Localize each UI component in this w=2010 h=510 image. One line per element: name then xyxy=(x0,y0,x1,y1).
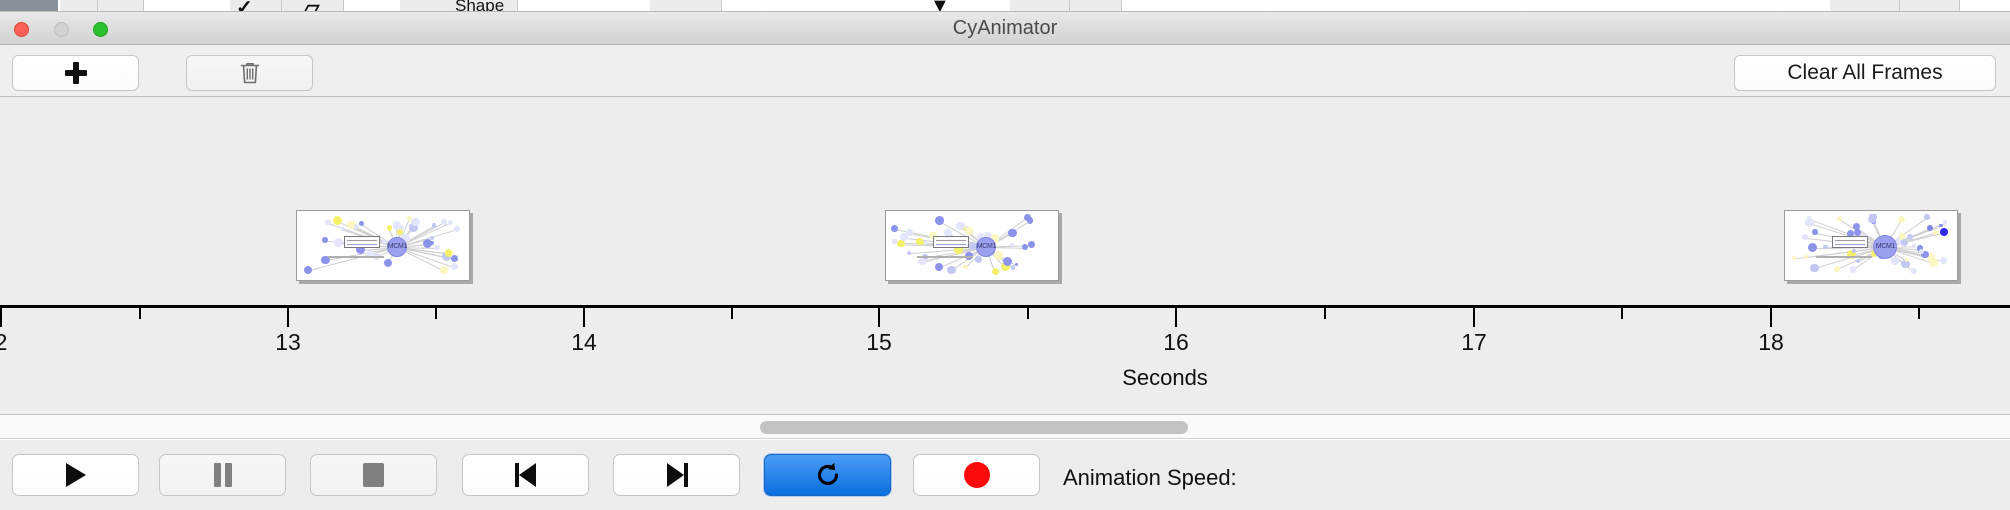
graph-hub-node: MCM1 xyxy=(1873,235,1897,259)
graph-node xyxy=(1024,214,1031,221)
play-button[interactable] xyxy=(12,454,139,496)
graph-node xyxy=(1898,216,1905,223)
delete-frame-button[interactable] xyxy=(186,55,313,91)
graph-node xyxy=(1852,249,1856,253)
graph-node xyxy=(1919,249,1924,254)
graph-annotation-line xyxy=(347,240,377,241)
graph-node xyxy=(1905,258,1908,261)
frame-network-graph: MCM1 xyxy=(889,214,1055,277)
graph-node xyxy=(1943,220,1947,224)
skip-back-icon xyxy=(515,463,537,487)
graph-node xyxy=(451,255,458,262)
graph-node xyxy=(430,236,434,240)
graph-annotation-box xyxy=(933,236,969,248)
graph-node xyxy=(1808,243,1817,252)
timeline-tick-major xyxy=(0,308,2,327)
graph-caption-line xyxy=(328,256,384,258)
graph-node xyxy=(1940,257,1948,265)
graph-node xyxy=(1010,243,1014,247)
graph-node xyxy=(384,259,392,267)
graph-node xyxy=(1911,268,1918,275)
timeline-panel[interactable]: MCM1MCM1MCM1 2131415161718 Seconds xyxy=(0,97,2010,415)
graph-node xyxy=(1868,216,1875,223)
graph-node xyxy=(907,251,911,255)
play-icon xyxy=(66,463,86,487)
graph-node xyxy=(1939,224,1943,228)
timeline-tick-major xyxy=(287,308,289,327)
frame-toolbar: Clear All Frames xyxy=(0,45,2010,97)
graph-node xyxy=(445,249,452,256)
graph-node xyxy=(1891,257,1899,265)
graph-annotation-line xyxy=(936,244,966,245)
graph-node xyxy=(1804,255,1808,259)
skip-forward-icon xyxy=(666,463,688,487)
animation-speed-label: Animation Speed: xyxy=(1063,465,1237,491)
graph-node xyxy=(1792,256,1796,260)
graph-node xyxy=(440,266,448,274)
timeline-scrollbar[interactable] xyxy=(0,415,2010,439)
timeline-tick-minor xyxy=(1621,308,1623,319)
graph-caption-line xyxy=(1816,256,1872,258)
graph-node xyxy=(1901,239,1908,246)
window-title: CyAnimator xyxy=(0,12,2010,45)
graph-node xyxy=(965,227,973,235)
graph-annotation-box xyxy=(1832,236,1868,248)
graph-annotation-box xyxy=(344,236,380,248)
timeline-tick-label: 13 xyxy=(275,329,301,356)
graph-node xyxy=(906,229,913,236)
plus-icon xyxy=(65,62,87,84)
clear-all-frames-label: Clear All Frames xyxy=(1787,61,1942,85)
timeline-axis-title-text: Seconds xyxy=(1122,365,1208,390)
graph-node xyxy=(891,225,898,232)
graph-node xyxy=(402,234,406,238)
graph-node xyxy=(1850,266,1857,273)
graph-node xyxy=(1924,214,1930,220)
stop-button xyxy=(310,454,437,496)
graph-node xyxy=(1015,263,1018,266)
cyanimator-window: ✓ ▱ ▼ Shape CyAnimator Clear All Frames xyxy=(0,0,2010,510)
pause-button xyxy=(159,454,286,496)
graph-node xyxy=(454,226,460,232)
frame-network-graph: MCM1 xyxy=(300,214,466,277)
graph-node xyxy=(1028,241,1035,248)
timeline-axis xyxy=(0,305,2010,308)
graph-node xyxy=(994,251,1003,260)
graph-node xyxy=(1008,229,1016,237)
graph-node xyxy=(411,218,419,226)
graph-node xyxy=(334,238,343,247)
graph-node xyxy=(333,216,342,225)
graph-annotation-line xyxy=(1835,240,1865,241)
graph-node xyxy=(975,256,982,263)
pause-icon xyxy=(213,463,233,487)
graph-node xyxy=(1802,234,1808,240)
graph-node xyxy=(1940,228,1948,236)
graph-node xyxy=(325,220,330,225)
timeline-tick-major xyxy=(1770,308,1772,327)
graph-node xyxy=(1003,257,1012,266)
graph-node xyxy=(1834,266,1840,272)
graph-node xyxy=(1854,229,1861,236)
graph-annotation-line xyxy=(1835,244,1865,245)
timeline-tick-label: 18 xyxy=(1758,329,1784,356)
timeline-tick-label: 16 xyxy=(1163,329,1189,356)
timeline-tick-major xyxy=(1175,308,1177,327)
timeline-axis-title: Seconds xyxy=(0,365,2010,391)
graph-annotation-line xyxy=(936,240,966,241)
graph-node xyxy=(1810,264,1818,272)
background-dark-segment xyxy=(0,0,58,11)
graph-node xyxy=(919,258,926,265)
graph-node xyxy=(992,268,999,275)
add-frame-button[interactable] xyxy=(12,55,139,91)
graph-node xyxy=(1812,229,1817,234)
stop-icon xyxy=(363,463,384,487)
loop-button[interactable] xyxy=(764,454,891,496)
playback-toolbar: Animation Speed: xyxy=(0,440,2010,510)
loop-icon xyxy=(814,461,842,489)
timeline-tick-minor xyxy=(435,308,437,319)
skip-end-button[interactable] xyxy=(613,454,740,496)
timeline-tick-minor xyxy=(731,308,733,319)
timeline-tick-label: 2 xyxy=(0,329,7,356)
timeline-tick-label: 17 xyxy=(1461,329,1487,356)
title-bar: CyAnimator xyxy=(0,12,2010,45)
graph-hub-node: MCM1 xyxy=(387,237,407,257)
trash-icon xyxy=(240,61,260,85)
timeline-frame-thumbnail[interactable]: MCM1 xyxy=(885,210,1059,281)
timeline-tick-minor xyxy=(1027,308,1029,319)
graph-caption-line xyxy=(917,256,973,258)
graph-node xyxy=(448,220,453,225)
timeline-tick-major xyxy=(1473,308,1475,327)
graph-node xyxy=(304,266,313,275)
timeline-tick-major xyxy=(878,308,880,327)
graph-node xyxy=(387,225,392,230)
timeline-tick-minor xyxy=(1918,308,1920,319)
graph-node xyxy=(956,222,964,230)
graph-node xyxy=(451,263,458,270)
graph-node xyxy=(1912,244,1916,248)
graph-node xyxy=(963,265,968,270)
graph-node xyxy=(434,245,440,251)
timeline-tick-minor xyxy=(139,308,141,319)
graph-hub-node: MCM1 xyxy=(976,237,996,257)
graph-node xyxy=(897,240,904,247)
graph-node xyxy=(430,241,434,245)
skip-start-button[interactable] xyxy=(462,454,589,496)
timeline-tick-minor xyxy=(1324,308,1326,319)
graph-node xyxy=(935,263,943,271)
scrollbar-thumb[interactable] xyxy=(760,421,1188,434)
graph-node xyxy=(947,266,955,274)
clear-all-frames-button[interactable]: Clear All Frames xyxy=(1734,55,1996,91)
timeline-tick-label: 15 xyxy=(866,329,892,356)
graph-node xyxy=(935,216,944,225)
timeline-frame-thumbnail[interactable]: MCM1 xyxy=(1784,210,1958,281)
graph-node xyxy=(892,239,897,244)
graph-node xyxy=(432,223,436,227)
timeline-frame-thumbnail[interactable]: MCM1 xyxy=(296,210,470,281)
graph-node xyxy=(1856,259,1860,263)
graph-annotation-line xyxy=(347,244,377,245)
graph-node xyxy=(322,237,327,242)
record-button[interactable] xyxy=(913,454,1040,496)
timeline-tick-label: 14 xyxy=(571,329,597,356)
timeline-tick-major xyxy=(583,308,585,327)
graph-node xyxy=(341,227,345,231)
frame-network-graph: MCM1 xyxy=(1788,214,1954,277)
record-icon xyxy=(964,462,990,488)
graph-node xyxy=(1823,245,1827,249)
